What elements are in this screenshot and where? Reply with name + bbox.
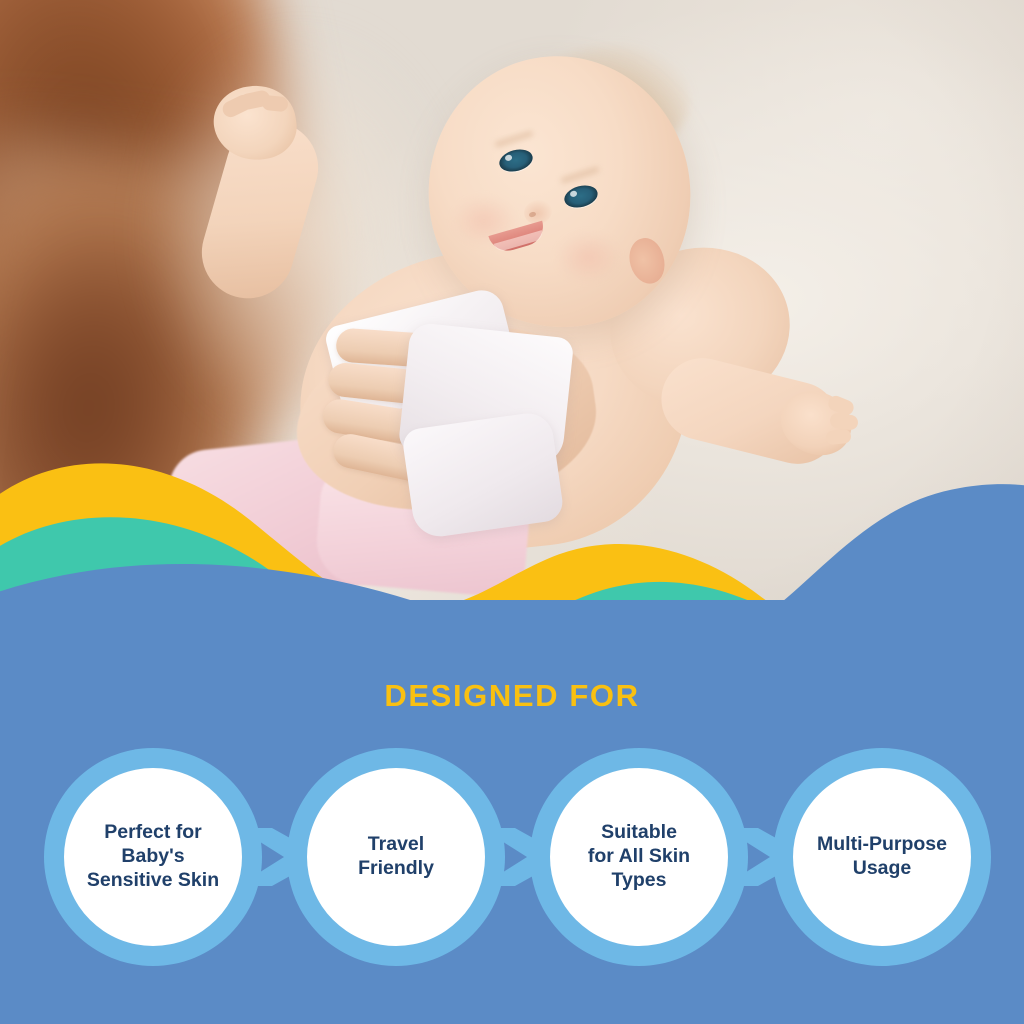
feature-bubble-inner: Travel Friendly <box>307 768 485 946</box>
feature-label: Travel Friendly <box>358 833 434 881</box>
feature-row: Perfect for Baby's Sensitive Skin Travel… <box>0 600 1024 1024</box>
feature-bubble-inner: Suitable for All Skin Types <box>550 768 728 946</box>
feature-sensitive-skin[interactable]: Perfect for Baby's Sensitive Skin <box>44 748 262 966</box>
feature-label: Suitable for All Skin Types <box>588 821 690 892</box>
feature-label: Multi-Purpose Usage <box>817 833 947 881</box>
infographic-canvas: DESIGNED FOR Perfect fo <box>0 0 1024 1024</box>
designed-for-panel: DESIGNED FOR Perfect fo <box>0 600 1024 1024</box>
feature-label: Perfect for Baby's Sensitive Skin <box>87 821 219 892</box>
feature-multi-purpose[interactable]: Multi-Purpose Usage <box>773 748 991 966</box>
feature-all-skin-types[interactable]: Suitable for All Skin Types <box>530 748 748 966</box>
feature-bubble-inner: Multi-Purpose Usage <box>793 768 971 946</box>
feature-travel-friendly[interactable]: Travel Friendly <box>287 748 505 966</box>
feature-bubble-inner: Perfect for Baby's Sensitive Skin <box>64 768 242 946</box>
